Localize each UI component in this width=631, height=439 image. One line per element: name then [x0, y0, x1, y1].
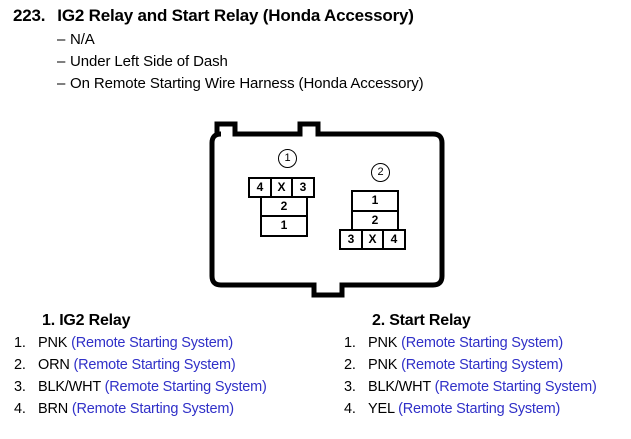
detail-line-location-na: –N/A: [57, 31, 95, 48]
legend-right-system-4: (Remote Starting System): [398, 401, 560, 417]
legend-left-wire-1: PNK: [38, 335, 67, 351]
list-item: 3.BLK/WHT (Remote Starting System): [344, 379, 631, 401]
legend-left-wire-2: ORN: [38, 357, 70, 373]
connector-2-pin-x: X: [361, 229, 385, 250]
detail-text: N/A: [70, 31, 95, 48]
legend-left-heading: 1. IG2 Relay: [42, 312, 344, 330]
legend-left-index-3: 3.: [14, 379, 38, 395]
connector-2-pin-4: 4: [382, 229, 406, 250]
list-item: 1.PNK (Remote Starting System): [14, 335, 344, 357]
legend-right-heading: 2. Start Relay: [372, 312, 631, 330]
legend-right-wire-1: PNK: [368, 335, 397, 351]
relay-location-diagram: 1 2 4 X 3 2 1 1 2 3 X 4: [205, 112, 450, 302]
legend-right-system-1: (Remote Starting System): [401, 335, 563, 351]
connector-1-pin-x: X: [270, 177, 294, 198]
list-item: 2.PNK (Remote Starting System): [344, 357, 631, 379]
legend-left-system-2: (Remote Starting System): [73, 357, 235, 373]
legend-left-wire-4: BRN: [38, 401, 68, 417]
legend-right-system-2: (Remote Starting System): [401, 357, 563, 373]
legend-left-index-4: 4.: [14, 401, 38, 417]
list-item: 1.PNK (Remote Starting System): [344, 335, 631, 357]
dash-marker: –: [57, 31, 70, 48]
connector-1-pin-3: 3: [291, 177, 315, 198]
list-item: 2.ORN (Remote Starting System): [14, 357, 344, 379]
legend-right-index-4: 4.: [344, 401, 368, 417]
detail-line-location: –Under Left Side of Dash: [57, 53, 228, 70]
list-item: 3.BLK/WHT (Remote Starting System): [14, 379, 344, 401]
legend-right-index-3: 3.: [344, 379, 368, 395]
title-number: 223.: [13, 6, 45, 26]
legend-right-index-2: 2.: [344, 357, 368, 373]
legend-start-relay: 2. Start Relay 1.PNK (Remote Starting Sy…: [344, 312, 631, 423]
legend-right-system-3: (Remote Starting System): [435, 379, 597, 395]
detail-text: Under Left Side of Dash: [70, 53, 228, 70]
connector-1-pin-4: 4: [248, 177, 272, 198]
callout-marker-2: 2: [371, 163, 390, 182]
legend-right-wire-3: BLK/WHT: [368, 379, 431, 395]
relay-housing-outline: [205, 112, 450, 302]
connector-2-pin-3: 3: [339, 229, 363, 250]
connector-1-top-strip: 4 X 3: [248, 177, 313, 198]
legend-left-system-4: (Remote Starting System): [72, 401, 234, 417]
legend-right-wire-2: PNK: [368, 357, 397, 373]
page-title: 223. IG2 Relay and Start Relay (Honda Ac…: [13, 6, 414, 26]
connector-2-bottom-strip: 3 X 4: [339, 229, 404, 250]
legend-right-index-1: 1.: [344, 335, 368, 351]
legend-left-wire-3: BLK/WHT: [38, 379, 101, 395]
callout-marker-1: 1: [278, 149, 297, 168]
legend-left-system-1: (Remote Starting System): [71, 335, 233, 351]
connector-1-pin-1: 1: [260, 215, 308, 237]
list-item: 4.YEL (Remote Starting System): [344, 401, 631, 423]
legend-right-wire-4: YEL: [368, 401, 394, 417]
dash-marker: –: [57, 75, 70, 92]
legend-left-index-1: 1.: [14, 335, 38, 351]
detail-text: On Remote Starting Wire Harness (Honda A…: [70, 75, 424, 92]
title-text: IG2 Relay and Start Relay (Honda Accesso…: [57, 6, 413, 26]
dash-marker: –: [57, 53, 70, 70]
list-item: 4.BRN (Remote Starting System): [14, 401, 344, 423]
connector-2-pinout: 1 2 3 X 4: [339, 190, 404, 250]
legend-ig2-relay: 1. IG2 Relay 1.PNK (Remote Starting Syst…: [14, 312, 344, 423]
legend-left-index-2: 2.: [14, 357, 38, 373]
detail-line-harness: –On Remote Starting Wire Harness (Honda …: [57, 75, 424, 92]
connector-1-pinout: 4 X 3 2 1: [248, 177, 313, 237]
legend-left-system-3: (Remote Starting System): [105, 379, 267, 395]
